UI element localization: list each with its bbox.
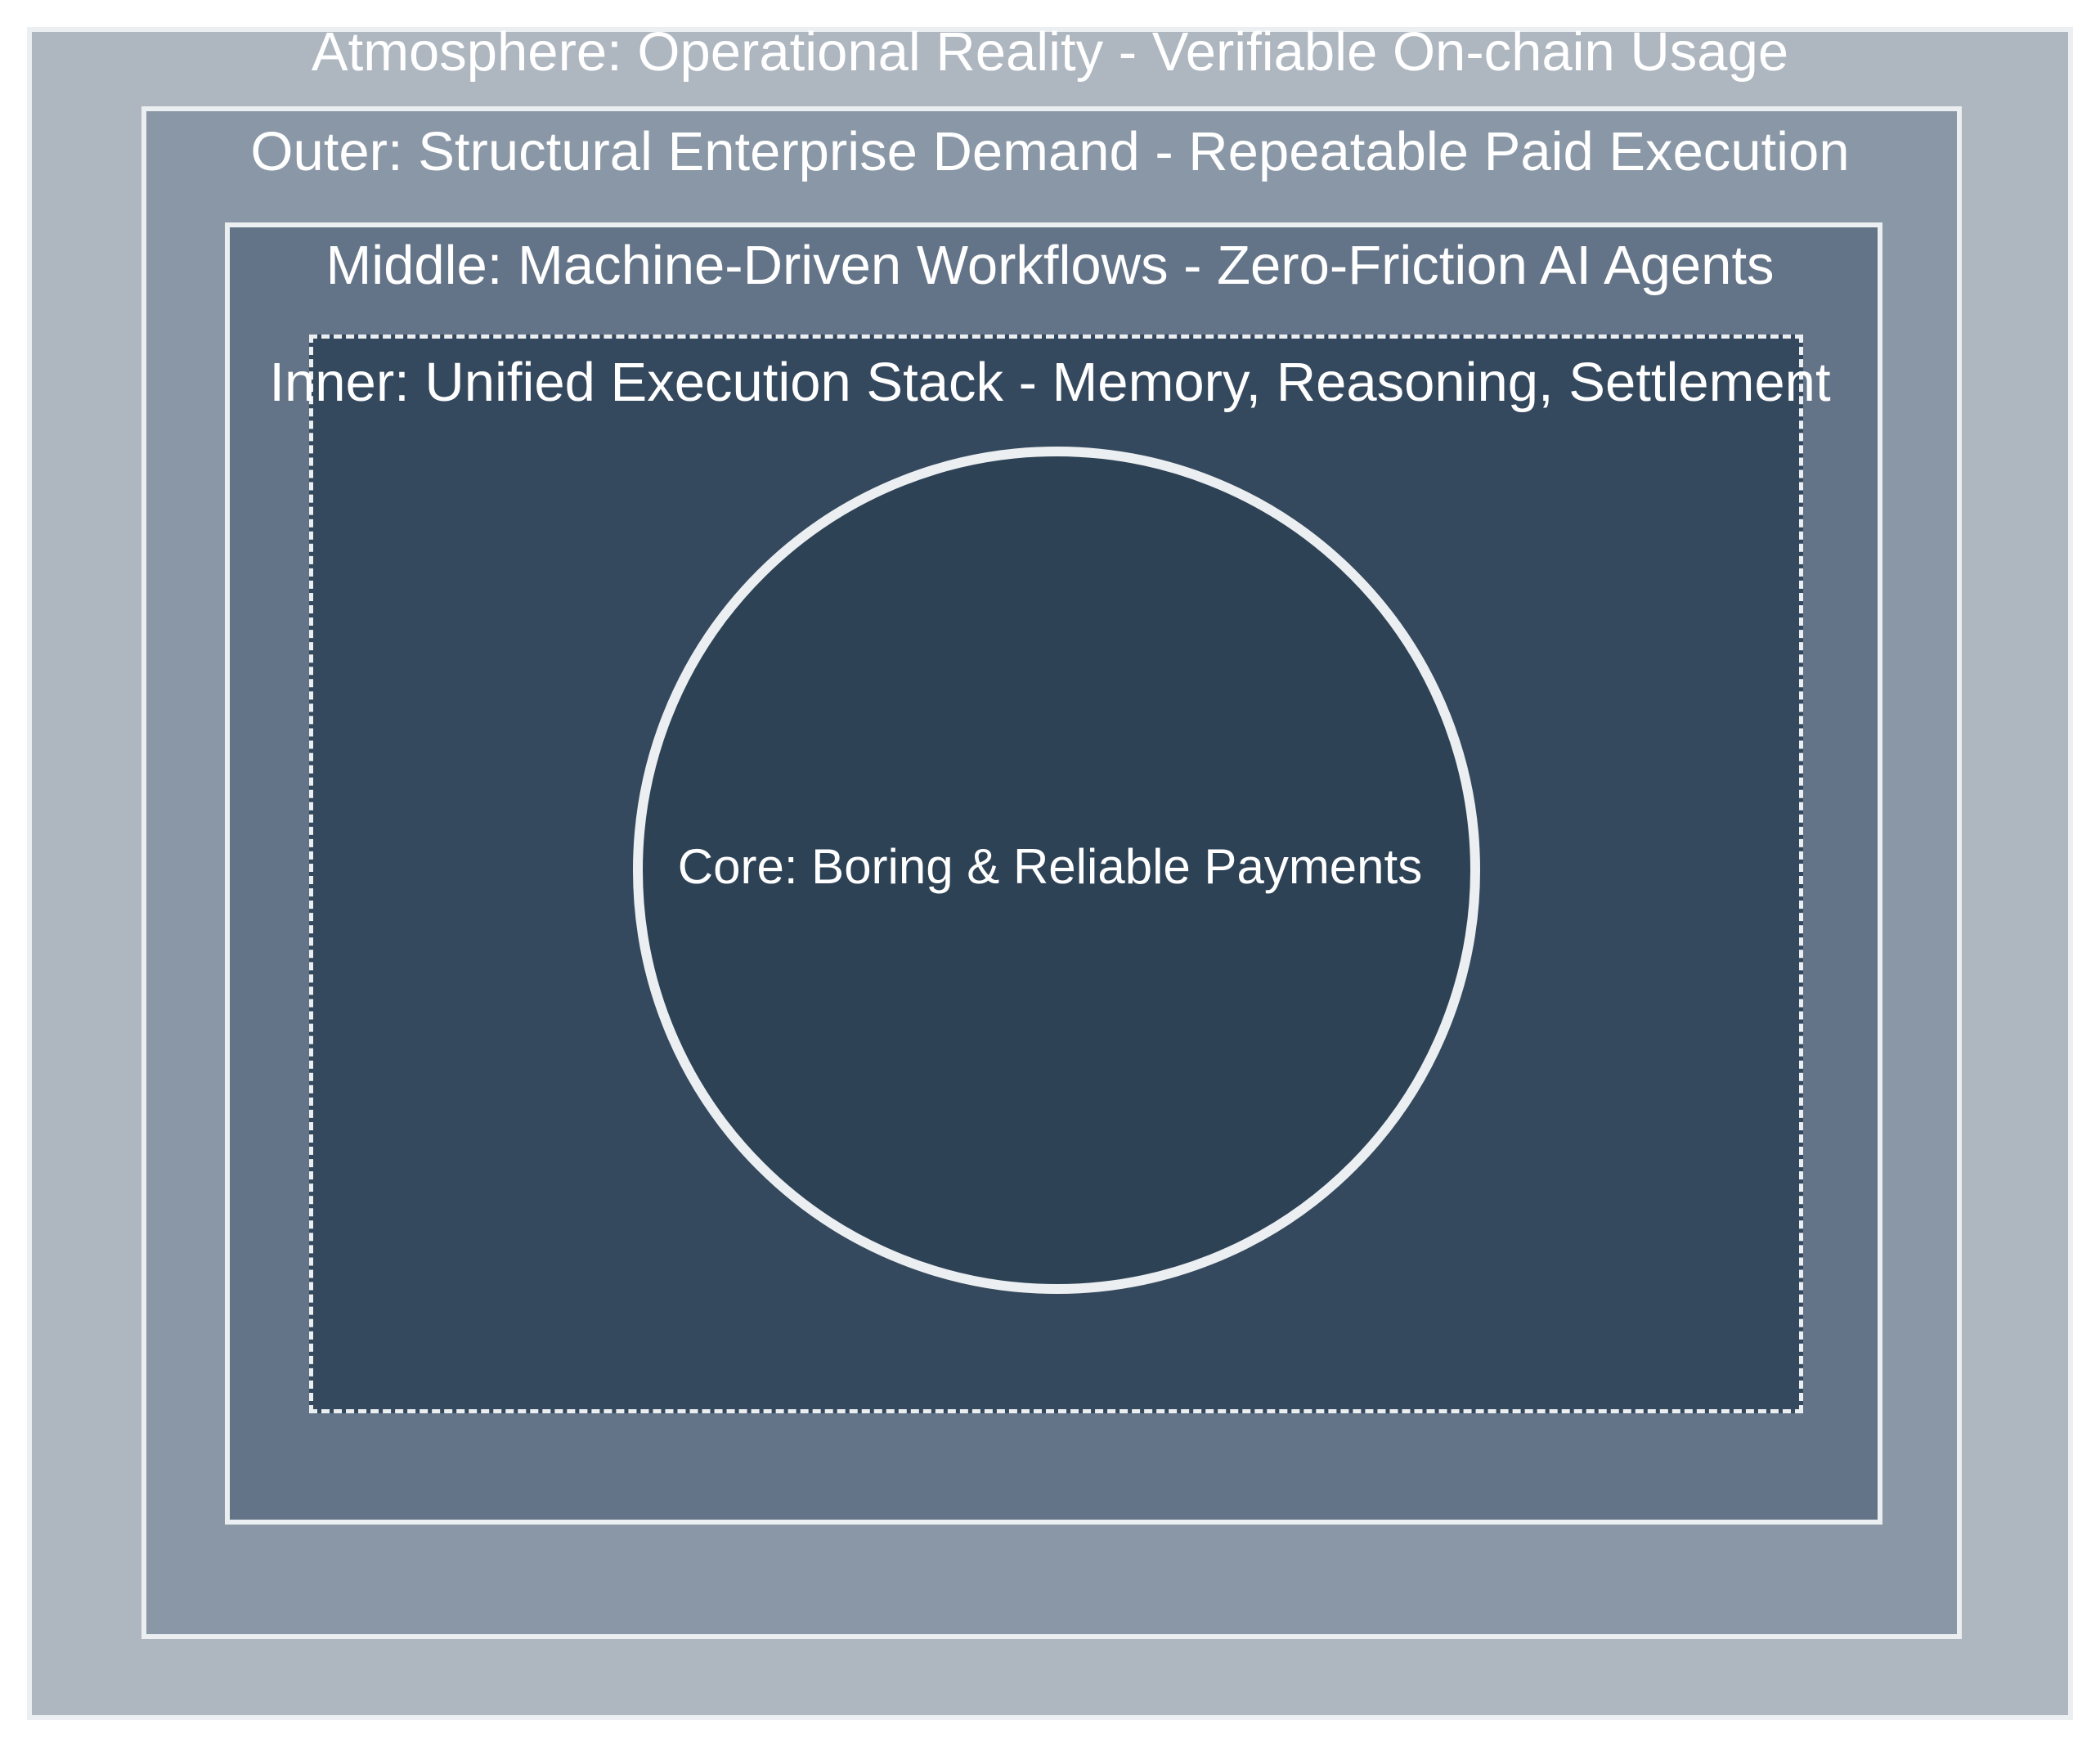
diagram-canvas: Atmosphere: Operational Reality - Verifi… xyxy=(0,0,2100,1747)
layer-core-circle xyxy=(633,447,1480,1294)
